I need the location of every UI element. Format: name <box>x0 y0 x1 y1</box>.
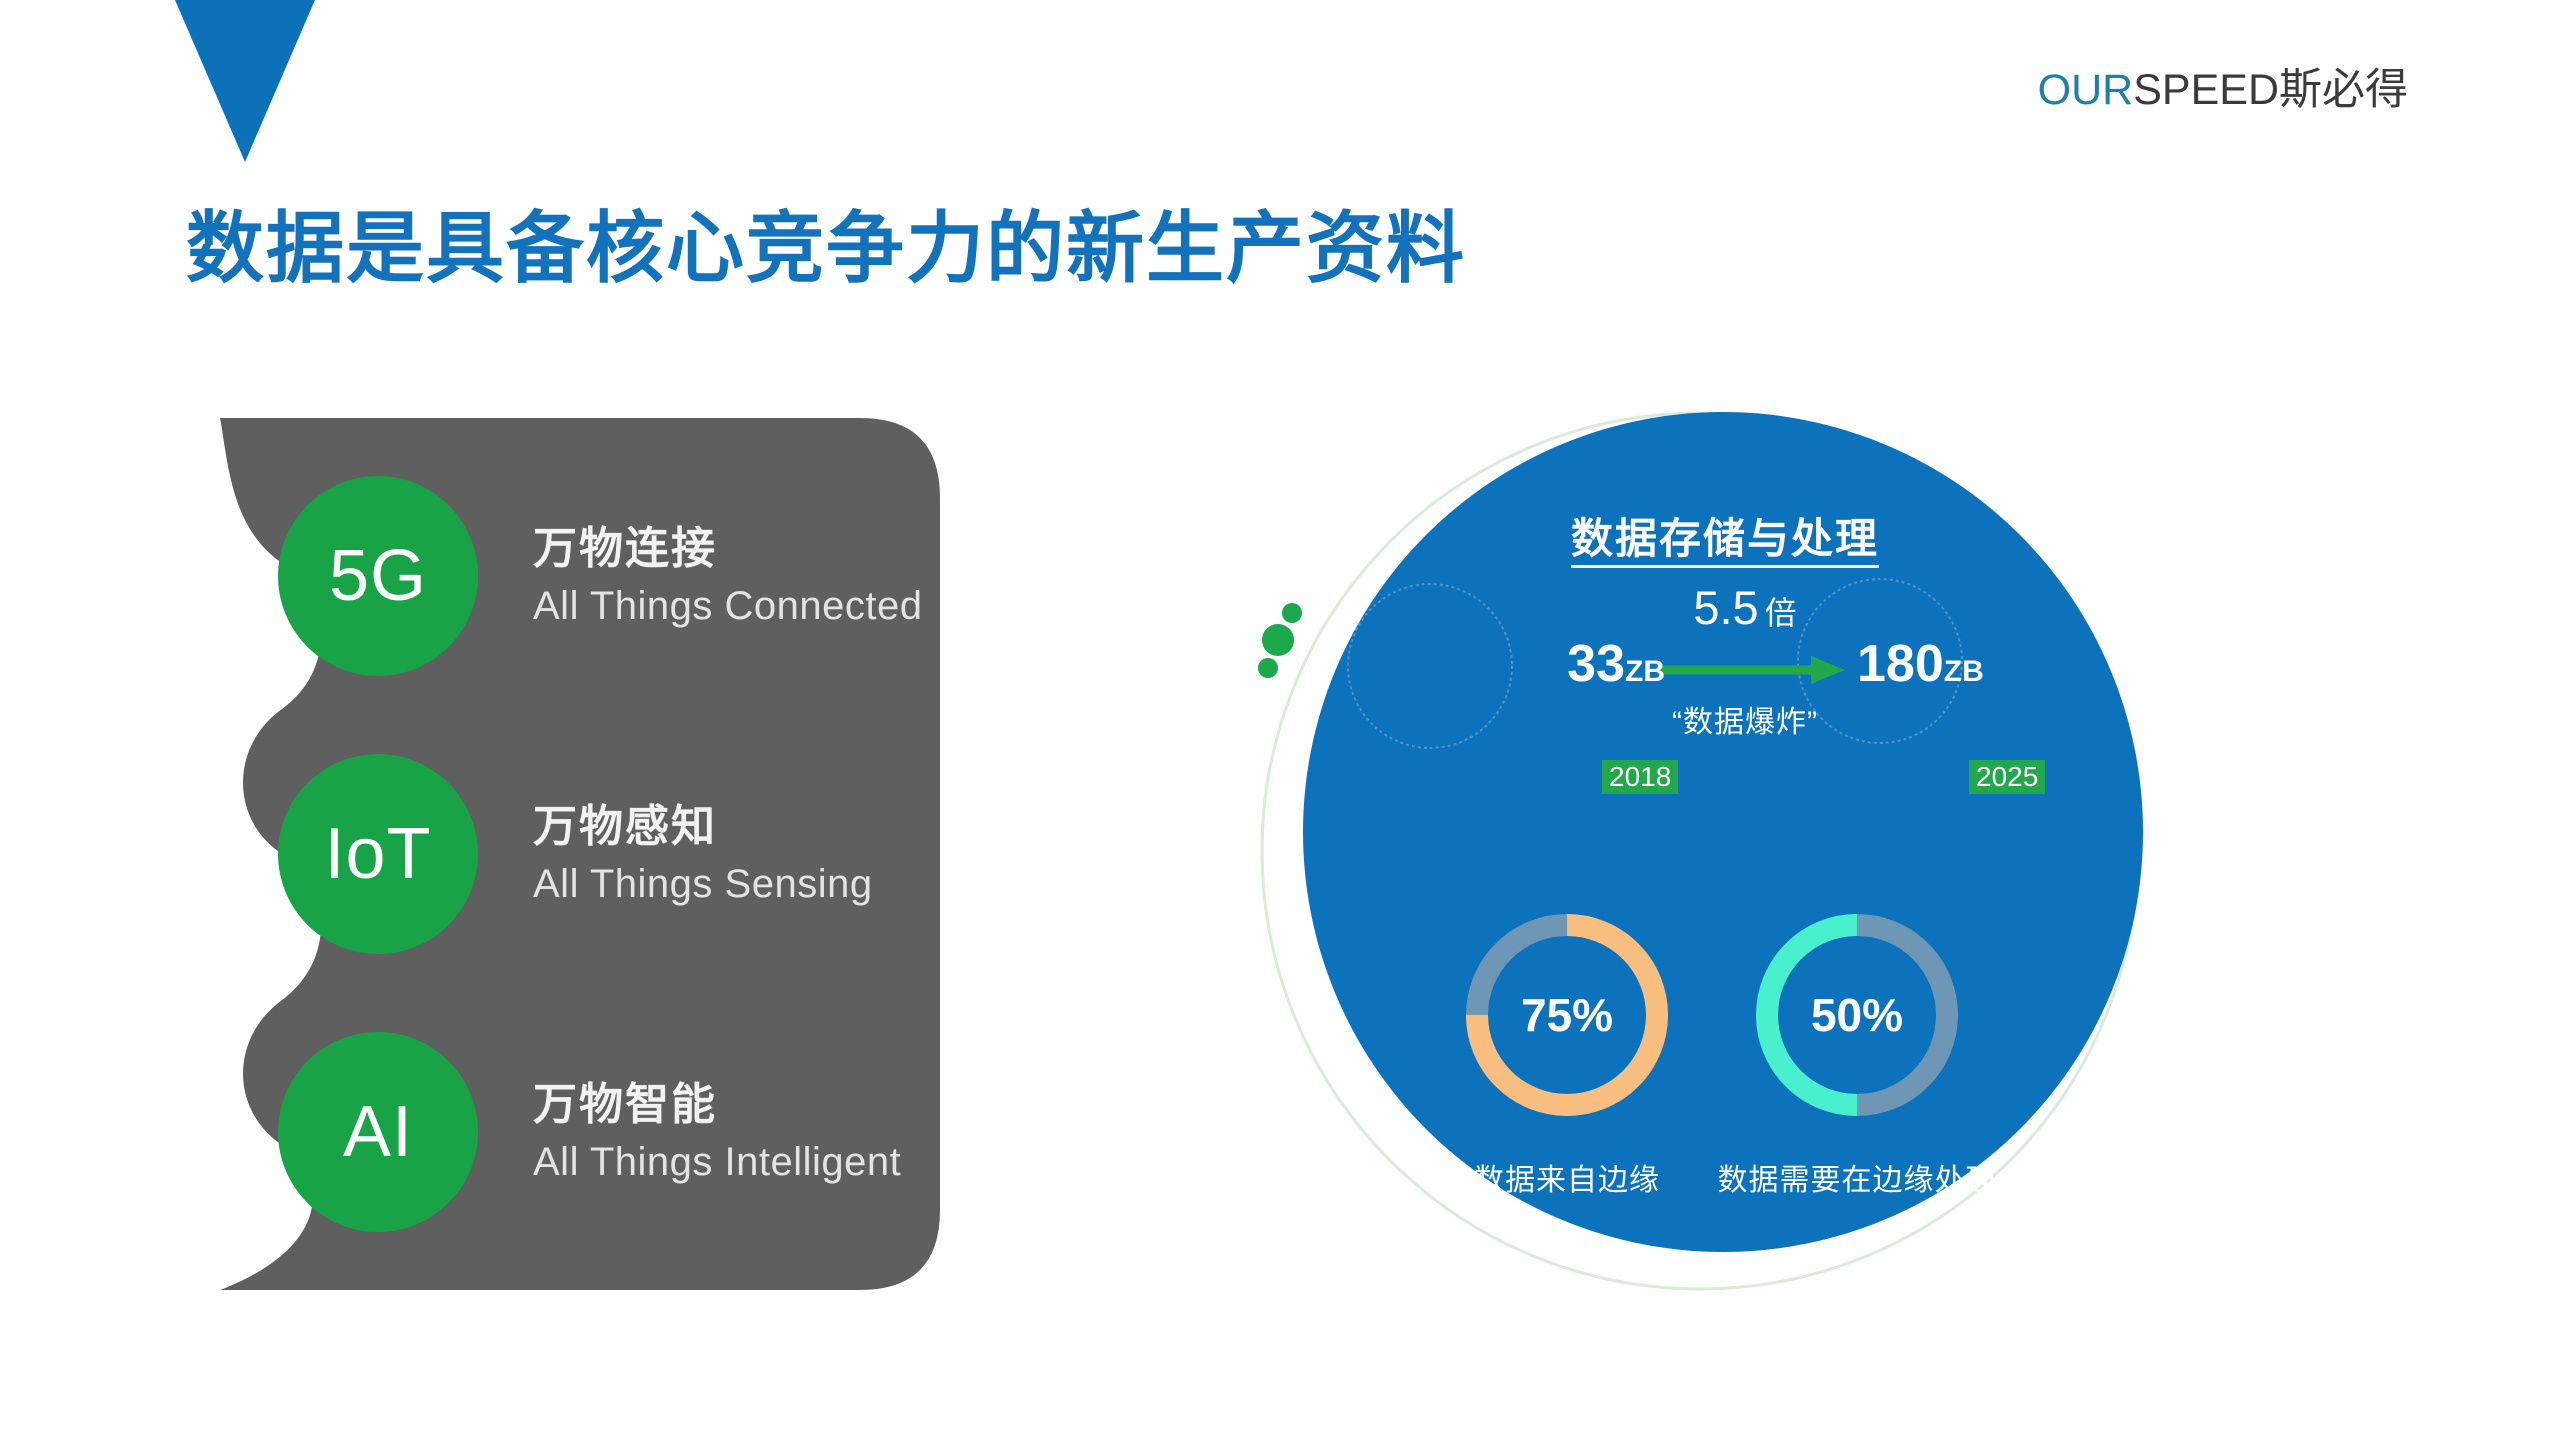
feature-text: 万物连接 All Things Connected <box>533 521 923 632</box>
feature-row: AI 万物智能 All Things Intelligent <box>278 1032 901 1232</box>
donut-value-label: 50% <box>1747 905 1967 1125</box>
badge-5g: 5G <box>278 476 478 676</box>
brand-prefix: OUR <box>2038 66 2134 114</box>
badge-ai: AI <box>278 1032 478 1232</box>
donut-caption-edge-origin: 数据来自边缘 <box>1474 1155 1660 1199</box>
stat-from-unit: ZB <box>1625 655 1665 688</box>
ring-dot-large <box>1262 624 1294 656</box>
corner-triangle-decor <box>175 0 315 162</box>
feature-list: 5G 万物连接 All Things Connected IoT 万物感知 Al… <box>220 418 940 1290</box>
stat-from-value: 33 <box>1567 635 1625 693</box>
feature-text: 万物感知 All Things Sensing <box>533 799 873 910</box>
feature-title-en: All Things Connected <box>533 580 923 632</box>
feature-title-cn: 万物感知 <box>533 799 873 854</box>
stat-to-value: 180 <box>1857 635 1944 693</box>
ring-dot-small-bottom <box>1258 658 1278 678</box>
stat-from: 33ZB <box>1445 634 1665 694</box>
stat-to-unit: ZB <box>1944 655 1984 688</box>
growth-multiplier: 5.5倍 <box>1625 580 1865 635</box>
badge-iot: IoT <box>278 754 478 954</box>
brand-logo: OURSPEED斯必得 <box>2038 55 2408 117</box>
slide-root: OURSPEED斯必得 数据是具备核心竞争力的新生产资料 5G 万物连接 All… <box>0 0 2560 1440</box>
left-feature-panel: 5G 万物连接 All Things Connected IoT 万物感知 Al… <box>220 418 940 1290</box>
feature-row: IoT 万物感知 All Things Sensing <box>278 754 873 954</box>
donut-chart-edge-processing: 50% <box>1747 905 1967 1125</box>
brand-suffix: SPEED斯必得 <box>2133 66 2408 114</box>
right-graphic-title: 数据存储与处理 <box>1245 505 2205 566</box>
year-badge-from: 2018 <box>1602 760 1678 794</box>
feature-title-cn: 万物连接 <box>533 521 923 576</box>
feature-text: 万物智能 All Things Intelligent <box>533 1077 901 1188</box>
donut-caption-edge-processing: 数据需要在边缘处理 <box>1718 1155 1997 1199</box>
right-circle-graphic: 数据存储与处理 33ZB 180ZB 5.5倍 “数据爆炸” 2018 2025… <box>1245 400 2205 1300</box>
stat-to: 180ZB <box>1857 634 2097 694</box>
donut-chart-edge-origin: 75% <box>1457 905 1677 1125</box>
multiplier-unit: 倍 <box>1765 595 1797 631</box>
right-graphic-title-text: 数据存储与处理 <box>1571 515 1879 568</box>
donut-value-label: 75% <box>1457 905 1677 1125</box>
ring-dot-small-top <box>1282 603 1302 623</box>
data-explosion-caption: “数据爆炸” <box>1625 697 1865 741</box>
feature-title-cn: 万物智能 <box>533 1077 901 1132</box>
page-title: 数据是具备核心竞争力的新生产资料 <box>186 186 1466 298</box>
feature-title-en: All Things Sensing <box>533 858 873 910</box>
feature-row: 5G 万物连接 All Things Connected <box>278 476 923 676</box>
year-badge-to: 2025 <box>1969 760 2045 794</box>
feature-title-en: All Things Intelligent <box>533 1136 901 1188</box>
multiplier-value: 5.5 <box>1693 581 1758 634</box>
